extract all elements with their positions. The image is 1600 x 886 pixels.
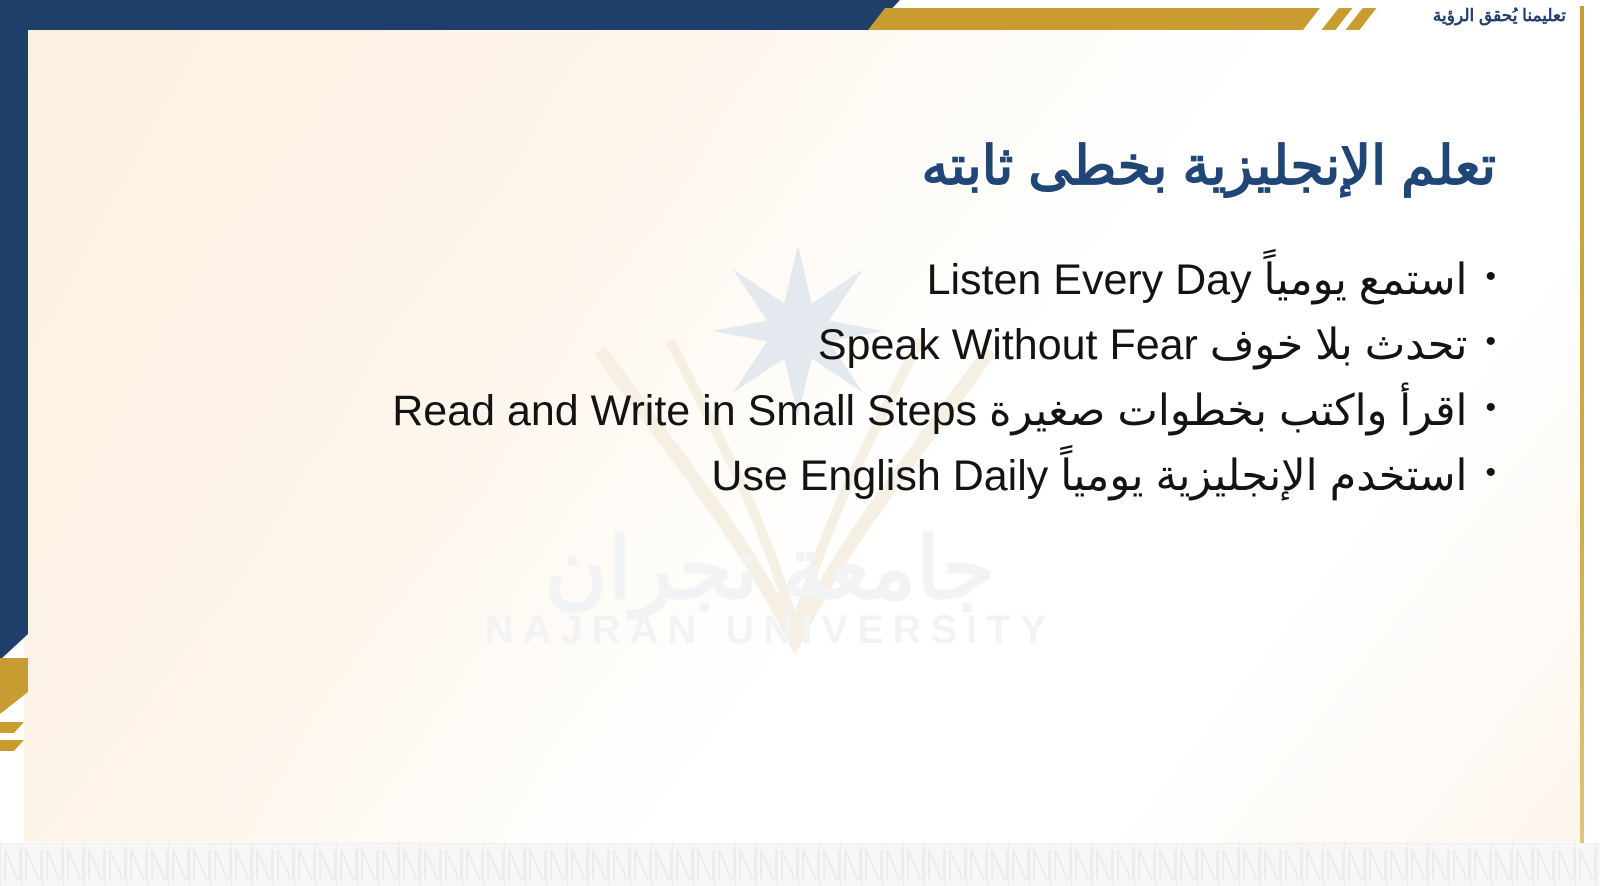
footer-pattern-cell <box>1176 844 1197 886</box>
footer-pattern-cell <box>1134 844 1155 886</box>
footer-pattern-cell <box>189 844 210 886</box>
footer-pattern-cell <box>1113 844 1134 886</box>
footer-pattern-cell <box>924 844 945 886</box>
footer-pattern-cell <box>21 844 42 886</box>
bullet-list: • Listen Every Day استمع يومياً • Speak … <box>156 248 1496 509</box>
footer-pattern-cell <box>336 844 357 886</box>
navy-top-bar <box>0 0 900 30</box>
footer-pattern-row <box>0 844 1600 886</box>
footer-pattern-cell <box>210 844 231 886</box>
bullet-dot-icon: • <box>1485 327 1496 357</box>
footer-pattern-cell <box>1029 844 1050 886</box>
footer-pattern-cell <box>1407 844 1428 886</box>
bullet-text: Listen Every Day استمع يومياً <box>927 248 1468 313</box>
gold-top-bar <box>868 8 1320 30</box>
footer-pattern-cell <box>1491 844 1512 886</box>
bullet-dot-icon: • <box>1485 393 1496 423</box>
footer-pattern-cell <box>1344 844 1365 886</box>
footer-pattern-cell <box>1197 844 1218 886</box>
footer-pattern-cell <box>1092 844 1113 886</box>
footer-pattern-cell <box>357 844 378 886</box>
footer-pattern-cell <box>1218 844 1239 886</box>
footer-pattern-cell <box>651 844 672 886</box>
slide: تعليمنا يُحقق الرؤية جامعة نجران NAJRAN … <box>0 0 1600 886</box>
footer-pattern-cell <box>903 844 924 886</box>
footer-pattern-cell <box>315 844 336 886</box>
gold-slash-icon-2 <box>1345 8 1376 30</box>
footer-pattern-cell <box>1512 844 1533 886</box>
footer-pattern-cell <box>861 844 882 886</box>
footer-pattern-cell <box>1155 844 1176 886</box>
footer-pattern-cell <box>1260 844 1281 886</box>
footer-pattern-cell <box>1281 844 1302 886</box>
footer-pattern-cell <box>105 844 126 886</box>
footer-pattern-cell <box>945 844 966 886</box>
footer-pattern-cell <box>84 844 105 886</box>
footer-pattern-cell <box>1050 844 1071 886</box>
bullet-dot-icon: • <box>1485 458 1496 488</box>
footer-pattern-cell <box>441 844 462 886</box>
footer-pattern-cell <box>882 844 903 886</box>
footer-pattern-cell <box>588 844 609 886</box>
footer-pattern-cell <box>1449 844 1470 886</box>
footer-pattern-cell <box>168 844 189 886</box>
footer-pattern-cell <box>126 844 147 886</box>
footer-pattern-cell <box>987 844 1008 886</box>
footer-pattern-cell <box>483 844 504 886</box>
footer-pattern-cell <box>147 844 168 886</box>
footer-pattern-cell <box>777 844 798 886</box>
bullet-dot-icon: • <box>1485 262 1496 292</box>
footer-pattern-cell <box>756 844 777 886</box>
footer-pattern-cell <box>462 844 483 886</box>
footer-pattern-cell <box>840 844 861 886</box>
footer-pattern-cell <box>273 844 294 886</box>
footer-pattern-cell <box>1365 844 1386 886</box>
footer-pattern-cell <box>798 844 819 886</box>
gold-left-slash-icon-2 <box>0 740 24 751</box>
footer-pattern-cell <box>1470 844 1491 886</box>
footer-pattern-cell <box>252 844 273 886</box>
footer-pattern-cell <box>399 844 420 886</box>
footer-pattern-cell <box>1008 844 1029 886</box>
footer-pattern-cell <box>42 844 63 886</box>
footer-pattern-cell <box>1428 844 1449 886</box>
watermark-arabic-name: جامعة نجران <box>470 524 1070 614</box>
footer-pattern-cell <box>966 844 987 886</box>
list-item: • Listen Every Day استمع يومياً <box>156 248 1496 313</box>
footer-pattern-cell <box>609 844 630 886</box>
footer-pattern-cell <box>693 844 714 886</box>
footer-pattern-cell <box>504 844 525 886</box>
footer-pattern-strip <box>0 844 1600 886</box>
footer-pattern-cell <box>1554 844 1575 886</box>
list-item: • Speak Without Fear تحدث بلا خوف <box>156 313 1496 378</box>
bullet-text: Speak Without Fear تحدث بلا خوف <box>818 313 1468 378</box>
footer-pattern-cell <box>1302 844 1323 886</box>
footer-pattern-cell <box>735 844 756 886</box>
footer-pattern-cell <box>546 844 567 886</box>
bullet-text: Use English Daily استخدم الإنجليزية يومي… <box>711 444 1467 509</box>
watermark-english-name: NAJRAN UNIVERSITY <box>470 608 1070 653</box>
list-item: • Read and Write in Small Steps اقرأ واك… <box>156 379 1496 444</box>
footer-pattern-cell <box>672 844 693 886</box>
footer-pattern-cell <box>1596 844 1600 886</box>
gold-right-rule <box>1580 6 1584 866</box>
gold-left-slash-icon-1 <box>0 722 24 733</box>
university-logo-watermark: جامعة نجران NAJRAN UNIVERSITY <box>470 524 1070 653</box>
footer-pattern-cell <box>231 844 252 886</box>
footer-pattern-cell <box>1533 844 1554 886</box>
footer-pattern-cell <box>714 844 735 886</box>
list-item: • Use English Daily استخدم الإنجليزية يو… <box>156 444 1496 509</box>
footer-pattern-cell <box>525 844 546 886</box>
footer-pattern-cell <box>819 844 840 886</box>
footer-pattern-cell <box>1239 844 1260 886</box>
footer-pattern-cell <box>1386 844 1407 886</box>
footer-pattern-cell <box>378 844 399 886</box>
footer-pattern-cell <box>567 844 588 886</box>
footer-pattern-cell <box>0 844 21 886</box>
footer-pattern-cell <box>420 844 441 886</box>
footer-pattern-cell <box>1323 844 1344 886</box>
footer-pattern-cell <box>63 844 84 886</box>
slide-title: تعلم الإنجليزية بخطى ثابته <box>922 134 1497 197</box>
footer-pattern-cell <box>1575 844 1596 886</box>
navy-left-bar <box>0 0 28 660</box>
footer-pattern-cell <box>1071 844 1092 886</box>
footer-pattern-cell <box>630 844 651 886</box>
footer-pattern-cell <box>294 844 315 886</box>
bullet-text: Read and Write in Small Steps اقرأ واكتب… <box>392 379 1467 444</box>
header-tagline: تعليمنا يُحقق الرؤية <box>1433 6 1566 26</box>
